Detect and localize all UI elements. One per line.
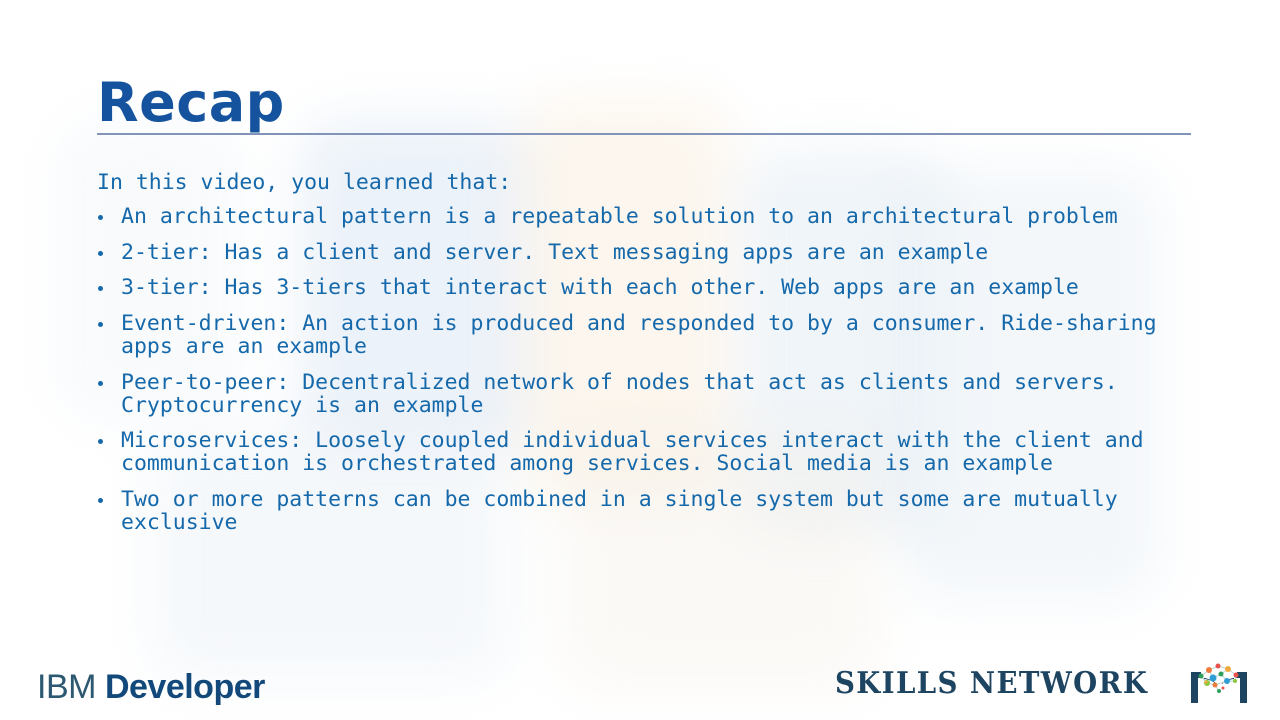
list-item: Event-driven: An action is produced and … <box>97 313 1202 359</box>
recap-bullet-list: An architectural pattern is a repeatable… <box>97 206 1202 535</box>
bullet-dot-icon <box>98 286 103 291</box>
developer-wordmark: Developer <box>105 668 265 706</box>
bullet-dot-icon <box>98 439 103 444</box>
bullet-dot-icon <box>98 215 103 220</box>
list-item-label: Microservices: Loosely coupled individua… <box>121 430 1202 476</box>
slide-body: In this video, you learned that: An arch… <box>97 172 1202 535</box>
list-item-label: Event-driven: An action is produced and … <box>121 313 1202 359</box>
list-item: 3-tier: Has 3-tiers that interact with e… <box>97 277 1202 300</box>
skills-network-wordmark: SKILLS NETWORK <box>835 668 1148 700</box>
list-item-label: 2-tier: Has a client and server. Text me… <box>121 242 1202 265</box>
bullet-dot-icon <box>98 322 103 327</box>
slide-recap: Recap In this video, you learned that: A… <box>0 0 1280 720</box>
list-item-label: Two or more patterns can be combined in … <box>121 489 1202 535</box>
page-title: Recap <box>97 74 285 132</box>
list-item-label: 3-tier: Has 3-tiers that interact with e… <box>121 277 1202 300</box>
list-item-label: Peer-to-peer: Decentralized network of n… <box>121 372 1202 418</box>
list-item-label: An architectural pattern is a repeatable… <box>121 206 1202 229</box>
ibm-developer-logo: IBMDeveloper <box>37 668 265 706</box>
title-divider <box>97 133 1191 135</box>
bullet-dot-icon <box>98 381 103 386</box>
bullet-dot-icon <box>98 498 103 503</box>
ibm-wordmark: IBM <box>37 668 96 706</box>
list-item: Peer-to-peer: Decentralized network of n… <box>97 372 1202 418</box>
list-item: Microservices: Loosely coupled individua… <box>97 430 1202 476</box>
open-book-network-icon <box>1190 661 1248 707</box>
list-item: Two or more patterns can be combined in … <box>97 489 1202 535</box>
list-item: 2-tier: Has a client and server. Text me… <box>97 242 1202 265</box>
intro-text: In this video, you learned that: <box>97 172 1202 195</box>
list-item: An architectural pattern is a repeatable… <box>97 206 1202 229</box>
skills-network-logo: SKILLS NETWORK <box>835 661 1248 707</box>
bullet-dot-icon <box>98 251 103 256</box>
